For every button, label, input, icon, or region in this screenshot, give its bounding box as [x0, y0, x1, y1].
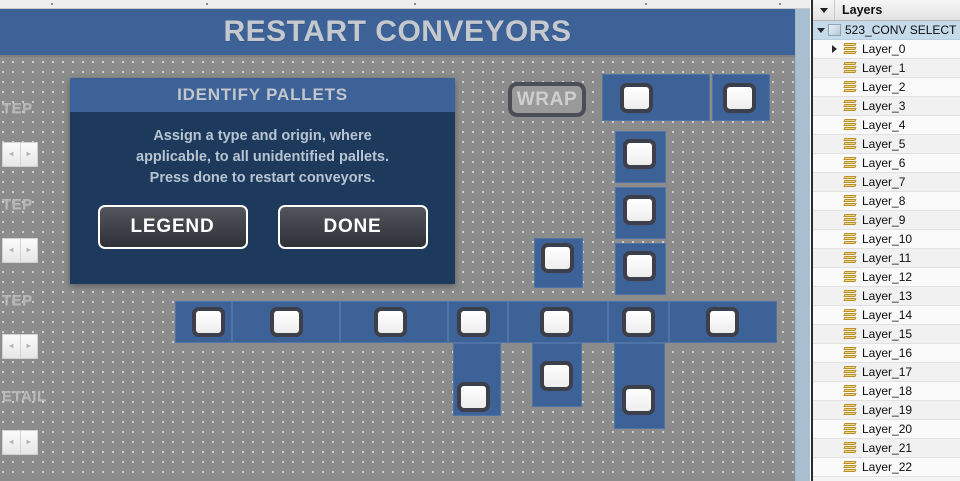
layer-stack-icon — [843, 366, 858, 379]
layers-panel-title: Layers — [835, 3, 882, 17]
layer-expand-toggle — [827, 154, 842, 172]
pallet-slot-button[interactable] — [622, 307, 655, 337]
layer-label: Layer_21 — [858, 441, 912, 455]
layer-stack-icon — [843, 176, 858, 189]
stepper-decrement-icon[interactable]: ◄ — [2, 238, 21, 263]
layer-label: Layer_20 — [858, 422, 912, 436]
dialog-title: IDENTIFY PALLETS — [177, 85, 348, 105]
quantity-stepper[interactable]: ◄► — [2, 430, 38, 455]
layer-label: Layer_11 — [858, 251, 911, 265]
quantity-stepper[interactable]: ◄► — [2, 334, 38, 359]
side-control-label: TEP — [2, 292, 33, 309]
ruler-strip — [0, 0, 810, 9]
layer-stack-icon — [843, 461, 858, 474]
canvas-vertical-scrollbar[interactable] — [795, 9, 810, 481]
layer-label: Layer_9 — [858, 213, 905, 227]
layer-label: Layer_14 — [858, 308, 912, 322]
layer-expand-toggle — [827, 135, 842, 153]
layer-label: Layer_2 — [858, 80, 905, 94]
layer-expand-toggle — [827, 344, 842, 362]
layer-row[interactable]: Layer_16 — [813, 344, 960, 363]
layer-expand-toggle — [827, 306, 842, 324]
identify-pallets-dialog: IDENTIFY PALLETS Assign a type and origi… — [70, 78, 455, 284]
layer-row[interactable]: Layer_9 — [813, 211, 960, 230]
layer-label: Layer_16 — [858, 346, 912, 360]
layer-row[interactable]: Layer_1 — [813, 59, 960, 78]
chevron-down-icon — [820, 8, 828, 13]
layer-row[interactable]: Layer_10 — [813, 230, 960, 249]
ruler-tick — [645, 3, 647, 5]
layer-row[interactable]: Layer_22 — [813, 458, 960, 477]
layer-row[interactable]: Layer_13 — [813, 287, 960, 306]
stepper-decrement-icon[interactable]: ◄ — [2, 430, 21, 455]
pallet-slot-button[interactable] — [270, 307, 303, 337]
layer-row[interactable]: Layer_0 — [813, 40, 960, 59]
stepper-decrement-icon[interactable]: ◄ — [2, 334, 21, 359]
layer-row[interactable]: Layer_8 — [813, 192, 960, 211]
layer-label: Layer_5 — [858, 137, 905, 151]
layer-expand-toggle — [827, 458, 842, 476]
layer-expand-toggle — [827, 439, 842, 457]
hmi-canvas[interactable]: RESTART CONVEYORS TEP◄►TEP◄►TEP◄►ETAIL◄►… — [0, 9, 795, 481]
triangle-down-icon — [817, 28, 825, 33]
layer-stack-icon — [843, 62, 858, 75]
layer-label: Layer_1 — [858, 61, 905, 75]
layer-stack-icon — [843, 347, 858, 360]
layer-expand-toggle — [827, 59, 842, 77]
layer-stack-icon — [843, 404, 858, 417]
pallet-slot-button[interactable] — [620, 83, 653, 113]
layer-row[interactable]: Layer_17 — [813, 363, 960, 382]
layer-stack-icon — [843, 385, 858, 398]
legend-button[interactable]: LEGEND — [98, 205, 248, 249]
layer-row[interactable]: Layer_12 — [813, 268, 960, 287]
side-control-label: TEP — [2, 196, 33, 213]
side-control-label: TEP — [2, 100, 33, 117]
layer-stack-icon — [843, 233, 858, 246]
pallet-slot-button[interactable] — [723, 83, 756, 113]
layer-expand-toggle — [827, 173, 842, 191]
layer-stack-icon — [843, 290, 858, 303]
layer-list: Layer_0Layer_1Layer_2Layer_3Layer_4Layer… — [813, 40, 960, 477]
layer-label: Layer_3 — [858, 99, 905, 113]
layer-stack-icon — [843, 157, 858, 170]
layer-row[interactable]: Layer_5 — [813, 135, 960, 154]
screen-title-bar: RESTART CONVEYORS — [0, 9, 795, 57]
ruler-tick — [414, 3, 416, 5]
layer-expand-toggle — [827, 325, 842, 343]
layer-stack-icon — [843, 328, 858, 341]
pallet-slot-button[interactable] — [457, 382, 490, 412]
layer-row[interactable]: Layer_11 — [813, 249, 960, 268]
layer-stack-icon — [843, 271, 858, 284]
stepper-decrement-icon[interactable]: ◄ — [2, 142, 21, 167]
layer-stack-icon — [843, 119, 858, 132]
side-control-label: ETAIL — [2, 388, 47, 405]
layer-label: Layer_18 — [858, 384, 912, 398]
layer-stack-icon — [843, 43, 858, 56]
layer-stack-icon — [843, 138, 858, 151]
layer-label: Layer_8 — [858, 194, 905, 208]
pallet-slot-button[interactable] — [457, 307, 490, 337]
done-button[interactable]: DONE — [278, 205, 428, 249]
layer-expand-toggle[interactable] — [827, 40, 842, 58]
pallet-slot-button[interactable] — [192, 307, 225, 337]
stepper-increment-icon[interactable]: ► — [21, 334, 39, 359]
layer-label: Layer_4 — [858, 118, 905, 132]
layers-panel-header: Layers — [813, 0, 960, 21]
pallet-slot-button[interactable] — [540, 307, 573, 337]
stepper-increment-icon[interactable]: ► — [21, 142, 39, 167]
dialog-message: Assign a type and origin, where applicab… — [90, 126, 435, 189]
layer-stack-icon — [843, 442, 858, 455]
layers-panel: Layers 523_CONV SELECT Layer_0Layer_1Lay… — [811, 0, 960, 481]
dialog-title-bar: IDENTIFY PALLETS — [70, 78, 455, 112]
layer-expand-toggle — [827, 249, 842, 267]
layer-stack-icon — [843, 309, 858, 322]
layer-expand-toggle — [827, 287, 842, 305]
layer-row[interactable]: Layer_20 — [813, 420, 960, 439]
ruler-tick — [779, 3, 781, 5]
layer-label: Layer_10 — [858, 232, 912, 246]
layer-label: Layer_17 — [858, 365, 912, 379]
layer-row[interactable]: Layer_19 — [813, 401, 960, 420]
application-window: RESTART CONVEYORS TEP◄►TEP◄►TEP◄►ETAIL◄►… — [0, 0, 960, 481]
layer-expand-toggle — [827, 116, 842, 134]
layer-stack-icon — [843, 214, 858, 227]
pallet-slot-button[interactable] — [622, 385, 655, 415]
pallet-slot-button[interactable] — [374, 307, 407, 337]
ruler-tick — [51, 3, 53, 5]
layer-row[interactable]: Layer_7 — [813, 173, 960, 192]
layer-expand-toggle — [827, 211, 842, 229]
wrap-button[interactable]: WRAP — [508, 82, 586, 117]
layer-row[interactable]: Layer_14 — [813, 306, 960, 325]
pallet-slot-button[interactable] — [540, 361, 573, 391]
layer-expand-toggle — [827, 420, 842, 438]
triangle-right-icon — [832, 45, 837, 53]
layer-label: Layer_6 — [858, 156, 905, 170]
layer-row[interactable]: Layer_2 — [813, 78, 960, 97]
layer-label: Layer_12 — [858, 270, 912, 284]
layer-expand-toggle — [827, 78, 842, 96]
pallet-slot-button[interactable] — [706, 307, 739, 337]
layer-expand-toggle — [827, 192, 842, 210]
page-title: RESTART CONVEYORS — [224, 15, 572, 49]
group-expand-toggle[interactable] — [813, 21, 828, 39]
layer-expand-toggle — [827, 268, 842, 286]
layer-row[interactable]: Layer_18 — [813, 382, 960, 401]
layer-stack-icon — [843, 252, 858, 265]
layer-label: Layer_7 — [858, 175, 905, 189]
layer-row[interactable]: Layer_21 — [813, 439, 960, 458]
quantity-stepper[interactable]: ◄► — [2, 142, 38, 167]
layer-label: Layer_15 — [858, 327, 912, 341]
layer-stack-icon — [843, 100, 858, 113]
layer-label: Layer_22 — [858, 460, 912, 474]
layer-expand-toggle — [827, 401, 842, 419]
layer-expand-toggle — [827, 363, 842, 381]
layer-expand-toggle — [827, 230, 842, 248]
pallet-slot-button[interactable] — [623, 139, 656, 169]
layer-row[interactable]: Layer_6 — [813, 154, 960, 173]
quantity-stepper[interactable]: ◄► — [2, 238, 38, 263]
layer-stack-icon — [843, 195, 858, 208]
dialog-body: Assign a type and origin, where applicab… — [70, 112, 455, 249]
layer-row[interactable]: Layer_4 — [813, 116, 960, 135]
layer-label: Layer_13 — [858, 289, 912, 303]
conveyor-segment[interactable] — [602, 74, 710, 121]
stepper-increment-icon[interactable]: ► — [21, 238, 39, 263]
pallet-slot-button[interactable] — [623, 195, 656, 225]
panel-collapse-toggle[interactable] — [813, 0, 835, 20]
layer-label: Layer_0 — [858, 42, 905, 56]
layer-expand-toggle — [827, 382, 842, 400]
layer-group-row[interactable]: 523_CONV SELECT — [813, 21, 960, 40]
layer-label: Layer_19 — [858, 403, 912, 417]
layer-row[interactable]: Layer_15 — [813, 325, 960, 344]
pallet-slot-button[interactable] — [623, 251, 656, 281]
layer-row[interactable]: Layer_3 — [813, 97, 960, 116]
layer-stack-icon — [843, 81, 858, 94]
pallet-slot-button[interactable] — [541, 243, 574, 273]
layer-expand-toggle — [827, 97, 842, 115]
layer-stack-icon — [843, 423, 858, 436]
layer-group-label: 523_CONV SELECT — [841, 23, 956, 37]
ruler-tick — [206, 3, 208, 5]
group-swatch-icon — [828, 24, 841, 36]
dialog-actions: LEGEND DONE — [90, 205, 435, 249]
stepper-increment-icon[interactable]: ► — [21, 430, 39, 455]
